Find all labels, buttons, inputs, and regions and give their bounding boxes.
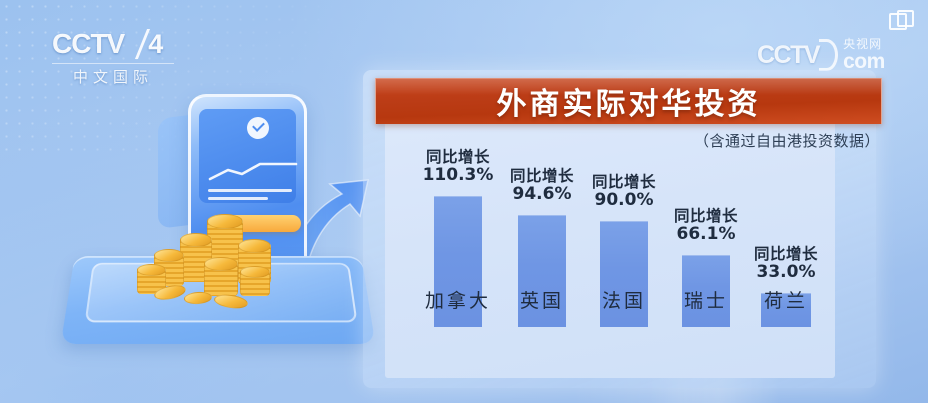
bar-value-label-1: 94.6% [510,185,574,205]
bar-caption-4: 同比增长 33.0% [754,246,818,283]
bar-group-3[interactable]: 同比增长 66.1% 瑞士 [682,255,730,327]
bar-value-label-4: 33.0% [754,263,818,283]
watermark-com-text: com [843,51,885,72]
bar-caption-2: 同比增长 90.0% [592,174,656,211]
logo-divider-icon [122,29,150,59]
bar-series-label-4: 同比增长 [754,246,818,263]
bar-category-label-0: 加拿大 [425,286,491,313]
coin-top-2 [180,233,212,247]
bar-value-label-2: 90.0% [592,191,656,211]
bar-category-label-1: 英国 [520,286,564,313]
watermark-cctv-text: CCTV [757,41,819,70]
phone-screen [199,109,296,203]
bar-group-2[interactable]: 同比增长 90.0% 法国 [600,221,648,327]
bar-caption-3: 同比增长 66.1% [674,208,738,245]
coin-top-3 [238,239,271,253]
coin-top-7 [240,266,270,278]
screen-line-2 [208,197,268,200]
bar-series-label-2: 同比增长 [592,174,656,191]
cctv-com-watermark: CCTV 央视网 com [757,38,885,72]
cctv4-channel-logo: CCTV 4 中文国际 [52,28,182,80]
bar-caption-0: 同比增长 110.3% [423,149,494,186]
coin-top-5 [204,257,238,271]
broadcast-screen: CCTV 4 中文国际 CCTV 央视网 com [0,0,928,403]
window-restore-icon[interactable] [889,10,911,30]
cctv-logo-row: CCTV 4 [52,28,182,60]
bar-series-label-0: 同比增长 [423,149,494,166]
check-badge-icon [247,117,269,139]
bar-chart: 同比增长 110.3% 加拿大 同比增长 94.6% 英国 同比增长 90.0%… [385,92,835,378]
bar-value-label-0: 110.3% [423,166,494,186]
channel-name-chinese: 中文国际 [52,63,174,87]
bar-value-label-3: 66.1% [674,225,738,245]
coin-top-6 [137,264,166,276]
bar-series-label-3: 同比增长 [674,208,738,225]
bar-group-0[interactable]: 同比增长 110.3% 加拿大 [434,196,482,327]
bar-category-label-2: 法国 [602,286,646,313]
watermark-right-block: 央视网 com [843,38,885,72]
coin-top-1 [207,214,243,229]
bar-category-label-3: 瑞士 [684,286,728,313]
bar-category-label-4: 荷兰 [764,286,808,313]
investment-growth-illustration [62,92,382,354]
screen-line-1 [208,189,292,192]
bar-series-label-1: 同比增长 [510,168,574,185]
bar-group-4[interactable]: 同比增长 33.0% 荷兰 [761,293,811,327]
channel-number: 4 [148,29,162,60]
watermark-arc-icon [819,39,838,71]
cctv-wordmark: CCTV [52,28,124,60]
bar-group-1[interactable]: 同比增长 94.6% 英国 [518,215,566,327]
watermark-cn-text: 央视网 [843,38,885,50]
window-restore-front-square [897,10,914,27]
coin-top-4 [154,249,184,262]
line-chart-icon [208,161,298,183]
bar-caption-1: 同比增长 94.6% [510,168,574,205]
